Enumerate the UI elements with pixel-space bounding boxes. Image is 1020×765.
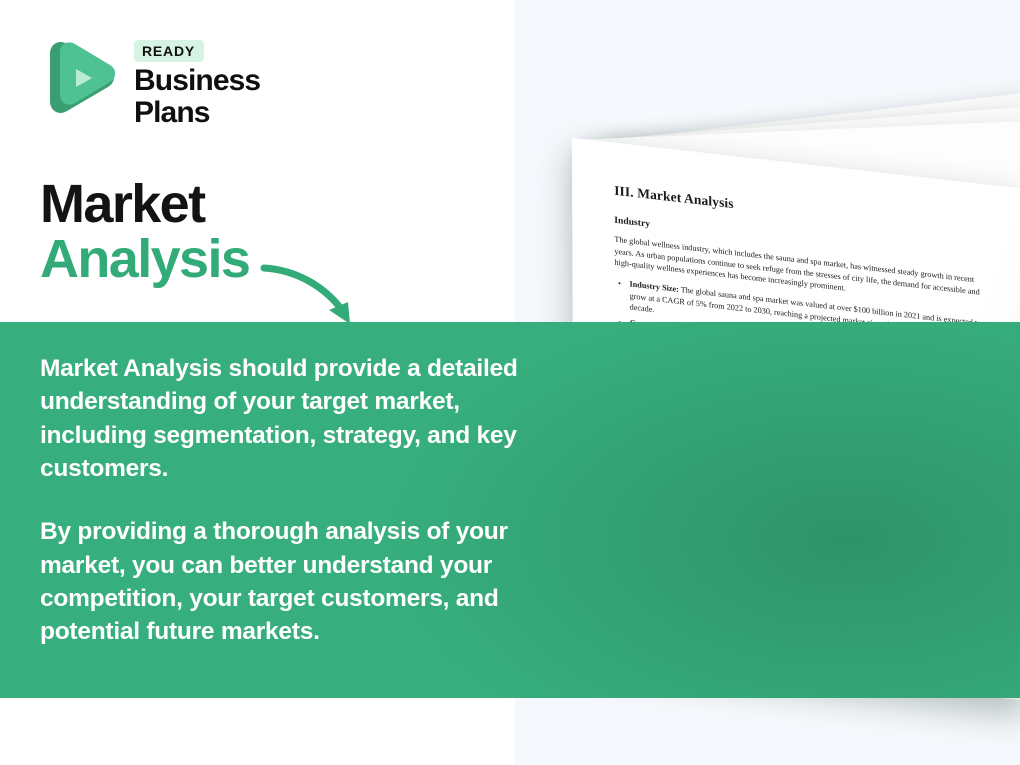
copy-paragraph-2: By providing a thorough analysis of your… xyxy=(40,515,560,648)
brand-name: Business Plans xyxy=(134,65,332,128)
page-title: Market Analysis xyxy=(40,178,249,286)
slide-canvas: III. Market Analysis Industry The global… xyxy=(0,0,1020,765)
logo-text: READY Business Plans xyxy=(134,40,332,128)
curved-arrow-down-right-icon xyxy=(258,258,378,336)
copy-block: Market Analysis should provide a detaile… xyxy=(40,352,560,649)
play-triangle-logo-icon xyxy=(42,38,120,118)
brand-logo[interactable]: READY Business Plans xyxy=(42,36,332,122)
copy-paragraph-1: Market Analysis should provide a detaile… xyxy=(40,352,560,485)
page-title-line2: Analysis xyxy=(40,233,249,286)
ready-badge: READY xyxy=(134,40,204,62)
page-title-line1: Market xyxy=(40,178,249,231)
document-heading: III. Market Analysis xyxy=(614,183,990,241)
